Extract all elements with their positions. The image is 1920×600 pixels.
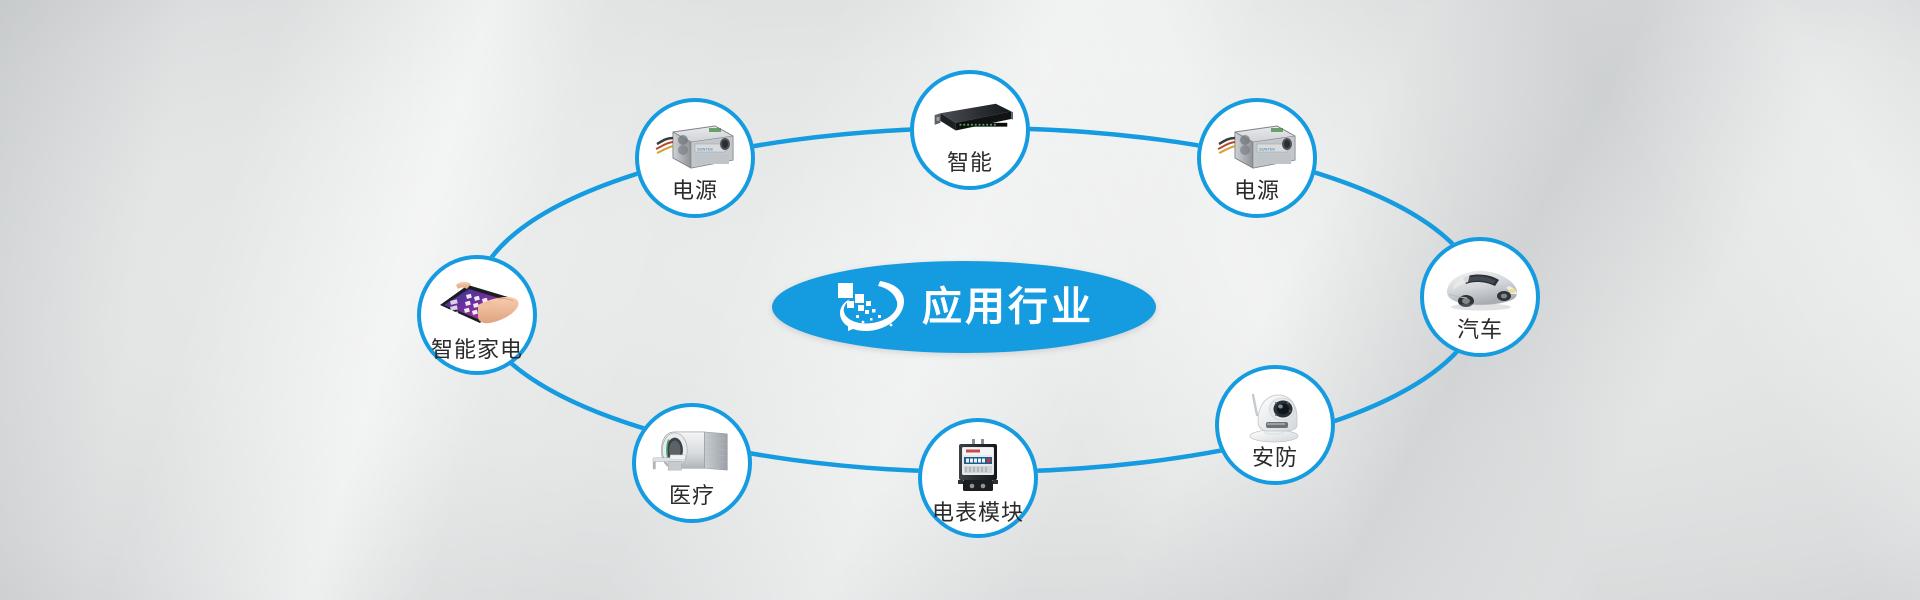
center-badge[interactable]: 应用行业 <box>772 261 1156 353</box>
node-label: 安防 <box>1219 447 1331 469</box>
node-security[interactable]: 安防 <box>1215 365 1335 485</box>
node-meter[interactable]: 电表模块 <box>918 418 1038 538</box>
tablet-touch-hand-icon <box>434 275 520 333</box>
power-supply-unit-icon: SUNTEK <box>652 118 738 176</box>
node-smart[interactable]: 智能 <box>910 70 1030 190</box>
node-label: 电源 <box>1201 180 1313 202</box>
sports-car-icon <box>1437 257 1523 315</box>
node-label: 电源 <box>639 180 751 202</box>
node-label: 电表模块 <box>922 502 1034 524</box>
node-automotive[interactable]: 汽车 <box>1420 237 1540 357</box>
ct-mri-scanner-icon <box>649 423 735 481</box>
svg-text:SUNTEK: SUNTEK <box>1259 147 1276 152</box>
node-label: 智能 <box>914 152 1026 174</box>
node-power-right[interactable]: SUNTEK 电源 <box>1197 98 1317 218</box>
node-smart-home[interactable]: 智能家电 <box>417 255 537 375</box>
node-power-left[interactable]: SUNTEK 电源 <box>635 98 755 218</box>
security-camera-icon <box>1232 385 1318 443</box>
pixel-swoosh-logo-icon <box>834 277 908 339</box>
svg-text:SUNTEK: SUNTEK <box>697 147 714 152</box>
node-label: 医疗 <box>636 485 748 507</box>
application-industries-banner: SUNTEK 电源 <box>0 0 1920 600</box>
badge-title: 应用行业 <box>922 287 1094 327</box>
power-supply-unit-icon: SUNTEK <box>1214 118 1300 176</box>
node-label: 智能家电 <box>421 339 533 361</box>
node-label: 汽车 <box>1424 319 1536 341</box>
rack-mount-server-icon <box>927 90 1013 148</box>
electricity-meter-icon <box>935 438 1021 496</box>
node-medical[interactable]: 医疗 <box>632 403 752 523</box>
